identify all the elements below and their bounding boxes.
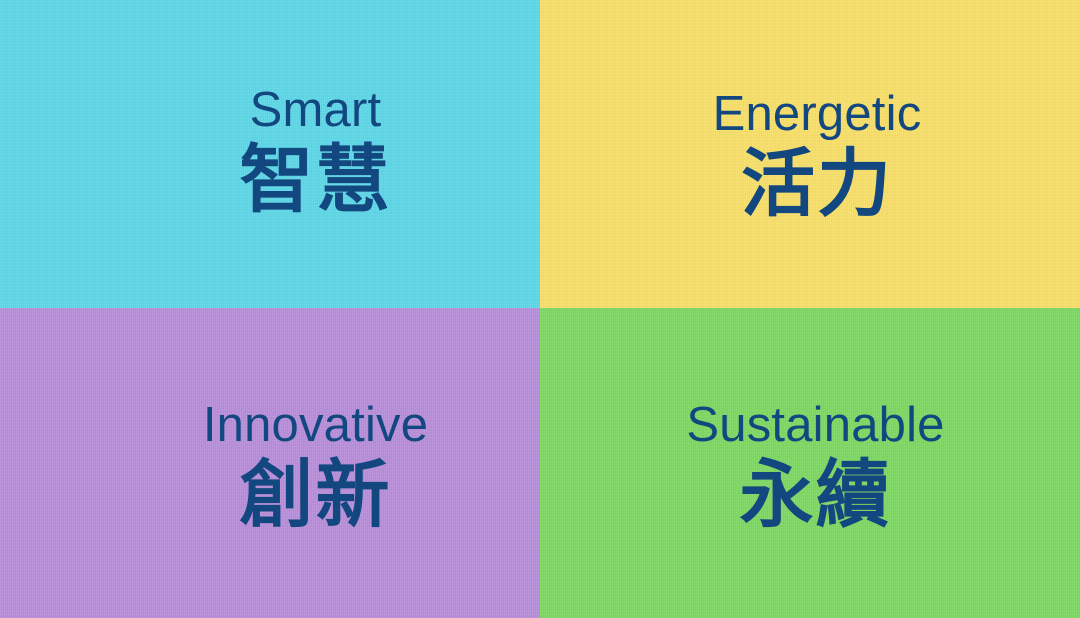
quadrant-sustainable: Sustainable 永續 [540,308,1080,618]
quadrant-smart: Smart 智慧 [0,0,540,308]
quadrant-smart-text: Smart 智慧 [91,86,540,217]
quadrant-sustainable-label-en: Sustainable [686,401,944,450]
quadrant-sustainable-label-cjk: 永續 [740,458,892,532]
quadrant-innovative-label-cjk: 創新 [240,458,392,532]
quadrant-energetic-text: Energetic 活力 [554,90,1080,221]
quadrant-innovative-text: Innovative 創新 [91,401,540,532]
quadrant-smart-label-en: Smart [250,86,382,135]
quadrant-sustainable-text: Sustainable 永續 [551,401,1080,532]
quadrant-innovative: Innovative 創新 [0,308,540,618]
quadrant-energetic-label-en: Energetic [713,90,922,139]
quadrant-energetic: Energetic 活力 [540,0,1080,308]
brand-values-poster: Smart 智慧 Energetic 活力 Innovative 創新 Sust… [0,0,1080,618]
quadrant-smart-label-cjk: 智慧 [240,143,392,217]
quadrant-energetic-label-cjk: 活力 [741,147,893,221]
quadrant-innovative-label-en: Innovative [203,401,428,450]
